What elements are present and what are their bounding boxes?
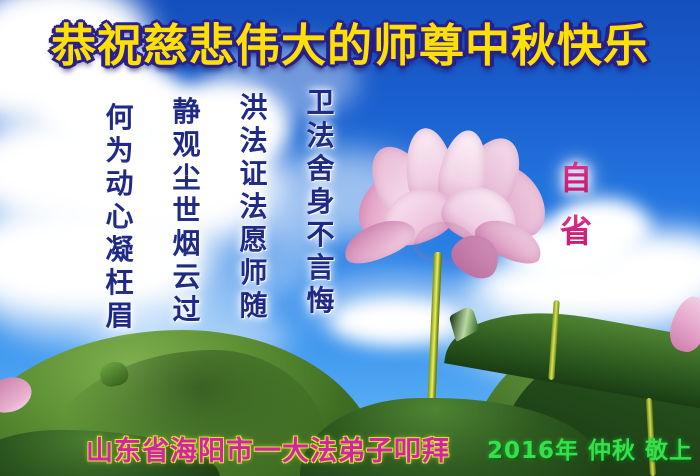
poem-char: 眉: [105, 299, 133, 332]
poem-block: 卫 法 舍 身 不 言 悔 洪 法 证 法 愿 师 随 静 观 尘 世 烟 云 …: [86, 86, 354, 332]
seal-text: 自 省: [543, 152, 609, 258]
poem-column-2: 洪 法 证 法 愿 师 随: [220, 86, 287, 332]
poem-char: 心: [105, 200, 133, 233]
poem-char: 随: [239, 289, 267, 322]
poem-char: 不: [306, 218, 334, 251]
poem-char: 世: [172, 194, 200, 227]
poem-char: 烟: [172, 227, 200, 260]
page-title: 恭祝慈悲伟大的师尊中秋快乐: [0, 9, 700, 74]
poem-char: 法: [306, 119, 334, 152]
poem-char: 过: [172, 293, 200, 326]
poem-column-1: 卫 法 舍 身 不 言 悔: [287, 86, 354, 332]
poem-column-3: 静 观 尘 世 烟 云 过: [153, 86, 220, 332]
poem-char: 洪: [239, 91, 267, 124]
poem-char: 师: [239, 256, 267, 289]
poem-char: 为: [105, 134, 133, 167]
poem-char: 言: [306, 251, 334, 284]
poem-char: 悔: [306, 284, 334, 317]
poem-char: 证: [239, 157, 267, 190]
poem-char: 云: [172, 260, 200, 293]
lotus-flower: [356, 128, 546, 278]
poem-char: 舍: [306, 152, 334, 185]
poem-char: 枉: [105, 266, 133, 299]
poem-char: 尘: [172, 161, 200, 194]
date-text: 2016年 仲秋 敬上: [487, 431, 693, 465]
poem-char: 观: [172, 128, 200, 161]
poem-char: 法: [239, 190, 267, 223]
poem-char: 凝: [105, 233, 133, 266]
poem-char: 何: [105, 101, 133, 134]
poem-char: 法: [239, 124, 267, 157]
seal-char: 省: [543, 205, 609, 258]
poem-char: 愿: [239, 223, 267, 256]
seal-char: 自: [543, 152, 609, 205]
poem-column-4: 何 为 动 心 凝 枉 眉: [86, 86, 153, 332]
signature-text: 山东省海阳市一大法弟子叩拜: [86, 429, 450, 468]
poem-char: 身: [306, 185, 334, 218]
poem-char: 静: [172, 95, 200, 128]
greeting-card-image: 恭祝慈悲伟大的师尊中秋快乐 卫 法 舍 身 不 言 悔 洪 法 证 法 愿 师 …: [0, 0, 700, 476]
poem-char: 卫: [306, 86, 334, 119]
poem-char: 动: [105, 167, 133, 200]
